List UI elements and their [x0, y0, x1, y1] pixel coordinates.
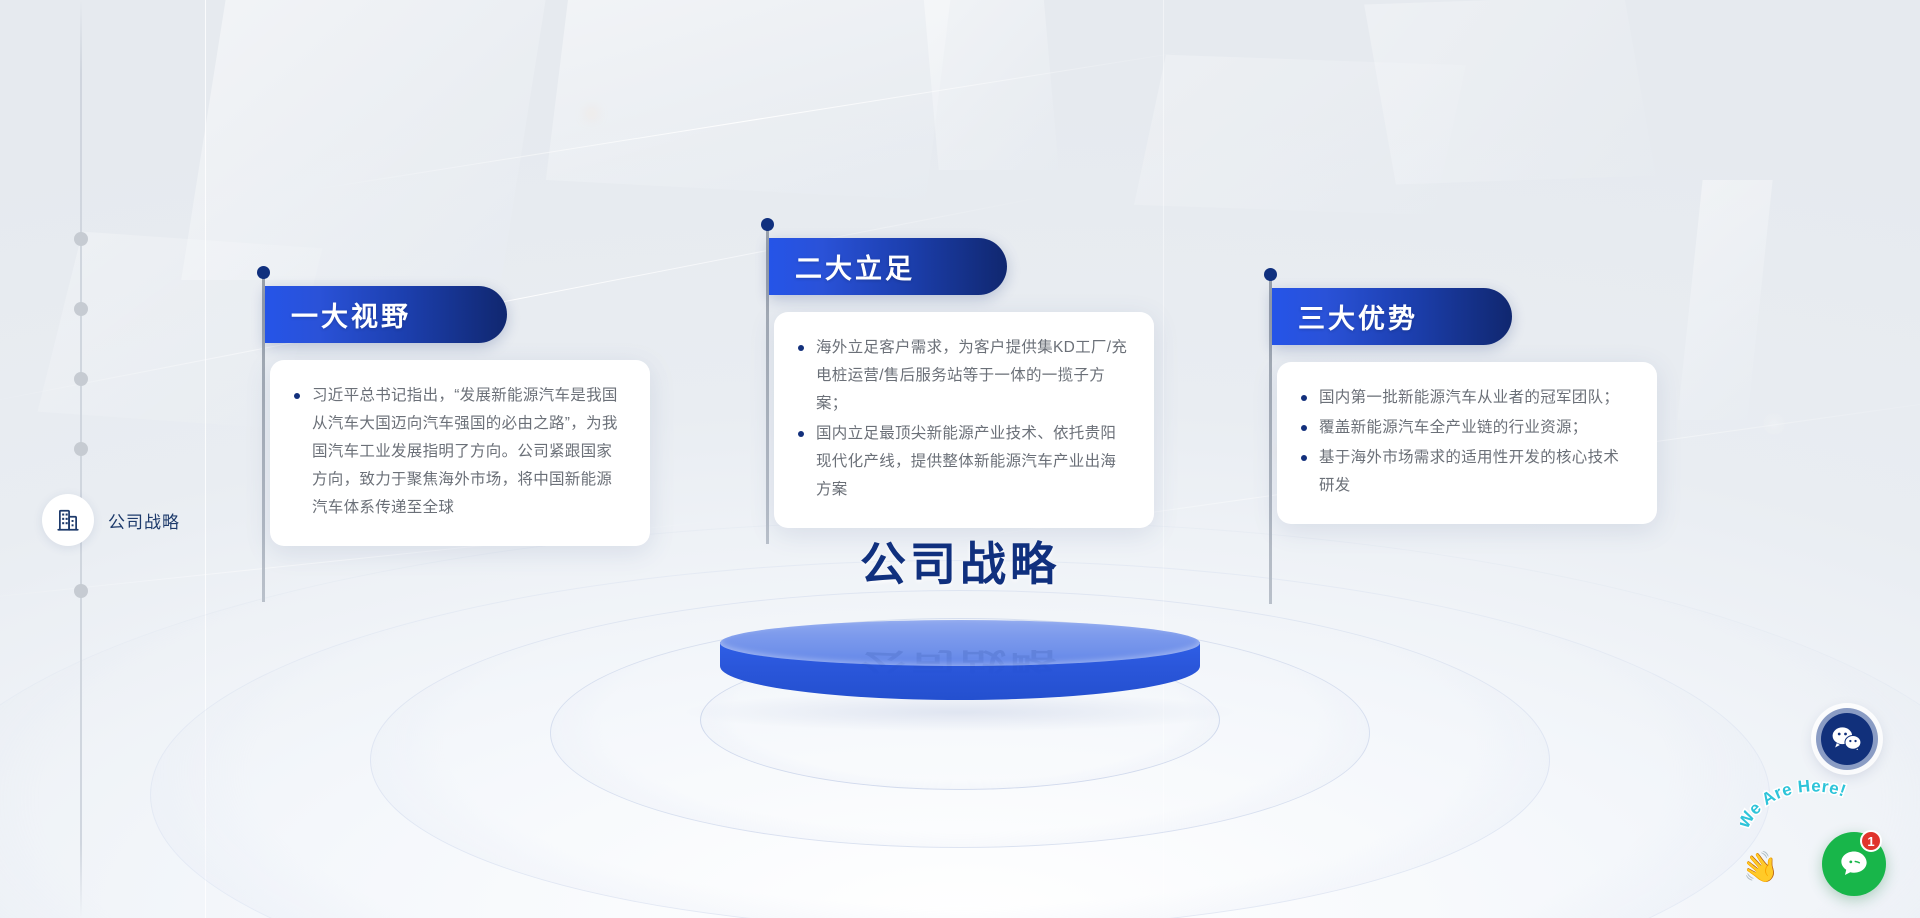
wechat-icon: [1831, 726, 1863, 752]
sidebar-dot-1[interactable]: [74, 232, 88, 246]
building-icon: [55, 507, 81, 533]
chat-arc-label: We Are Here!: [1740, 780, 1849, 832]
page-stage: 公司战略 一大视野 习近平总书记指出，“发展新能源汽车是我国从汽车大国迈向汽车强…: [0, 0, 1920, 918]
chat-arc-text: We Are Here!: [1740, 780, 1880, 840]
background-shard: [546, 0, 954, 200]
list-item: 基于海外市场需求的适用性开发的核心技术研发: [1299, 444, 1631, 500]
sidebar-dot-2[interactable]: [74, 302, 88, 316]
chat-unread-badge: 1: [1860, 830, 1882, 852]
card-title: 一大视野: [265, 295, 441, 334]
card-body-2: 海外立足客户需求，为客户提供集KD工厂/充电桩运营/售后服务站等于一体的一揽子方…: [774, 312, 1154, 528]
card-bullet-list: 习近平总书记指出，“发展新能源汽车是我国从汽车大国迈向汽车强国的必由之路”，为我…: [292, 382, 624, 522]
list-item: 国内第一批新能源汽车从业者的冠军团队；: [1299, 384, 1631, 412]
sidebar-item-company-strategy[interactable]: 公司战略: [42, 494, 180, 546]
card-bullet-list: 国内第一批新能源汽车从业者的冠军团队； 覆盖新能源汽车全产业链的行业资源； 基于…: [1299, 384, 1631, 500]
list-item: 覆盖新能源汽车全产业链的行业资源；: [1299, 414, 1631, 442]
sidebar-dot-4[interactable]: [74, 442, 88, 456]
card-banner-3[interactable]: 三大优势: [1272, 288, 1512, 345]
list-item: 国内立足最顶尖新能源产业技术、依托贵阳现代化产线，提供整体新能源汽车产业出海方案: [796, 420, 1128, 504]
flagpole-dot-icon: [257, 266, 270, 279]
chat-widget[interactable]: We Are Here! 👋 1: [1746, 770, 1896, 900]
sidebar-dot-3[interactable]: [74, 372, 88, 386]
wechat-button-inner: [1821, 713, 1873, 765]
page-title: 公司战略: [720, 528, 1200, 594]
background-glow: [588, 110, 595, 117]
sidebar-dot-5[interactable]: [74, 584, 88, 598]
wechat-button[interactable]: [1816, 708, 1878, 770]
sidebar-item-icon-bubble: [42, 494, 94, 546]
card-banner-2[interactable]: 二大立足: [769, 238, 1007, 295]
chat-button[interactable]: 1: [1822, 832, 1886, 896]
sidebar-item-label: 公司战略: [108, 508, 180, 533]
background-shard: [1134, 55, 1466, 215]
card-bullet-list: 海外立足客户需求，为客户提供集KD工厂/充电桩运营/售后服务站等于一体的一揽子方…: [796, 334, 1128, 504]
list-item: 海外立足客户需求，为客户提供集KD工厂/充电桩运营/售后服务站等于一体的一揽子方…: [796, 334, 1128, 418]
background-shard: [921, 0, 1058, 170]
card-body-1: 习近平总书记指出，“发展新能源汽车是我国从汽车大国迈向汽车强国的必由之路”，为我…: [270, 360, 650, 546]
flagpole-dot-icon: [761, 218, 774, 231]
card-banner-1[interactable]: 一大视野: [265, 286, 507, 343]
card-title: 二大立足: [769, 247, 945, 286]
chat-bubble-icon: [1837, 847, 1871, 881]
list-item: 习近平总书记指出，“发展新能源汽车是我国从汽车大国迈向汽车强国的必由之路”，为我…: [292, 382, 624, 522]
card-title: 三大优势: [1272, 297, 1448, 336]
podium-top: 公司战略: [720, 620, 1200, 666]
waving-hand-icon: 👋: [1739, 847, 1783, 889]
background-glow: [1770, 420, 1778, 428]
sidebar-rail: [80, 0, 82, 918]
flagpole-dot-icon: [1264, 268, 1277, 281]
card-body-3: 国内第一批新能源汽车从业者的冠军团队； 覆盖新能源汽车全产业链的行业资源； 基于…: [1277, 362, 1657, 524]
